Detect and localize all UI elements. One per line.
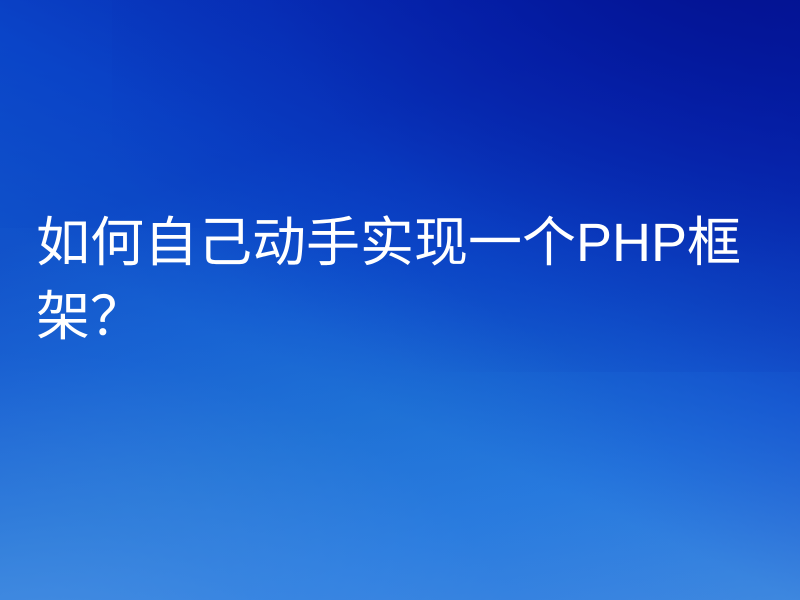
page-title: 如何自己动手实现一个PHP框架？ [36, 206, 776, 354]
title-block: 如何自己动手实现一个PHP框架？ [36, 206, 776, 354]
title-card: 如何自己动手实现一个PHP框架？ [0, 0, 800, 600]
